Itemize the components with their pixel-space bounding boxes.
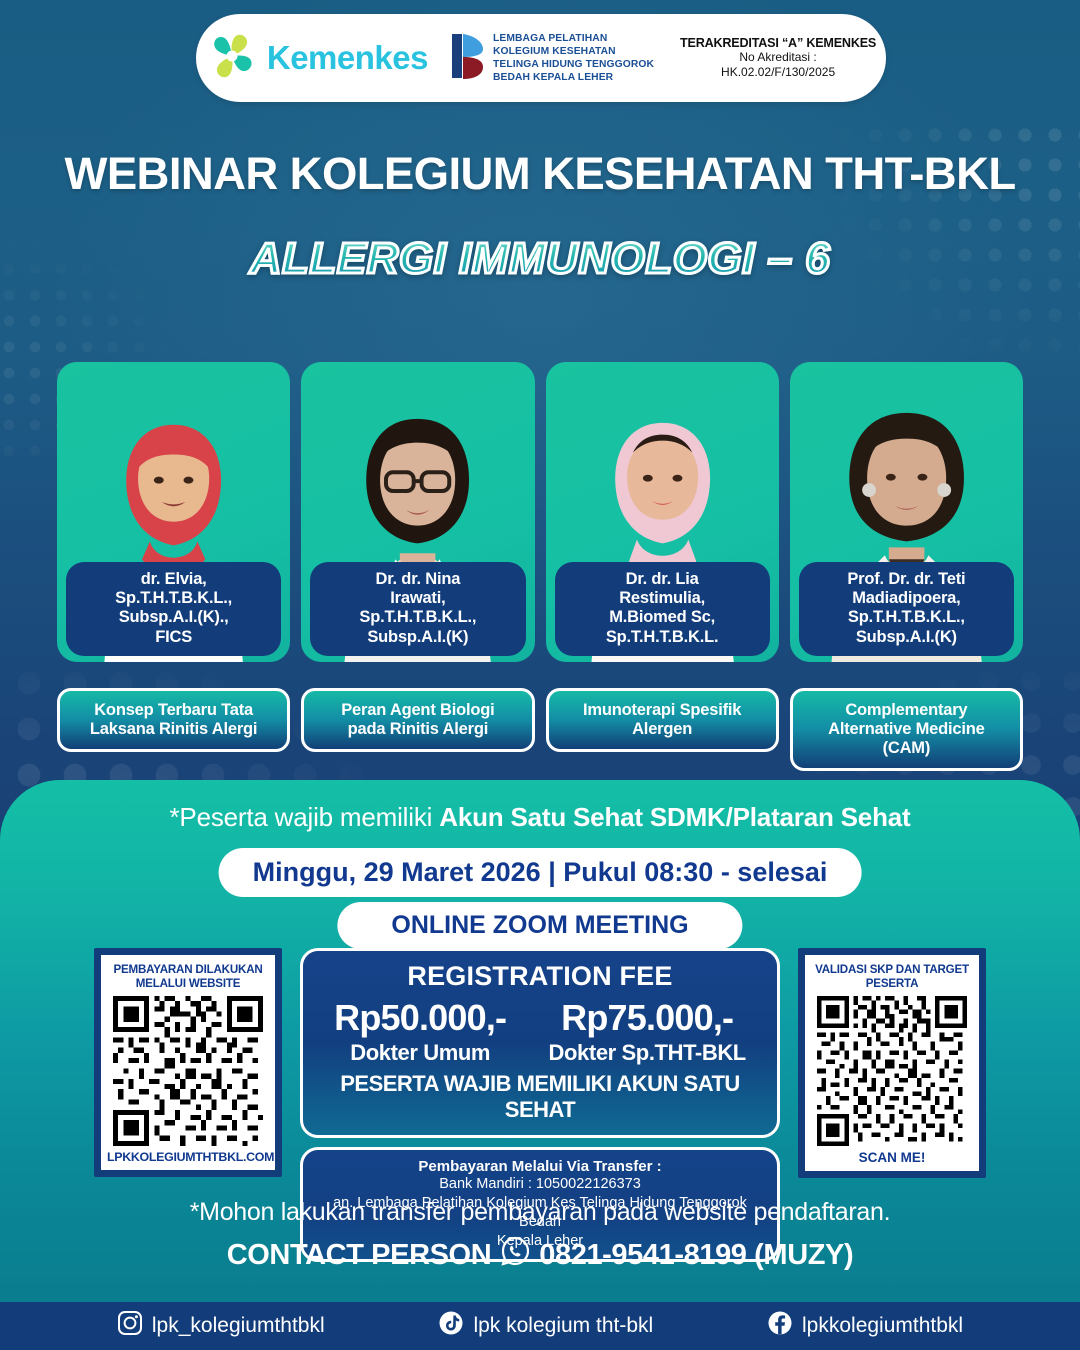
requirement-bold: Akun Satu Sehat SDMK/Plataran Sehat <box>439 802 910 832</box>
requirement-prefix: *Peserta wajib memiliki <box>170 802 440 832</box>
payment-qr-inner: PEMBAYARAN DILAKUKANMELALUI WEBSITE <box>101 955 275 1170</box>
skp-qr-card[interactable]: VALIDASI SKP DAN TARGETPESERTA <box>798 948 986 1178</box>
instagram-icon <box>117 1310 143 1342</box>
accreditation-block: TERAKREDITASI “A” KEMENKES No Akreditasi… <box>680 36 876 80</box>
topics-row: Konsep Terbaru TataLaksana Rinitis Alerg… <box>57 688 1023 771</box>
speaker-name: Dr. dr. LiaRestimulia,M.Biomed Sc,Sp.T.H… <box>555 562 770 656</box>
event-date-pill: Minggu, 29 Maret 2026 | Pukul 08:30 - se… <box>219 848 862 897</box>
poster-subtitle: ALLERGI IMMUNOLOGI – 6 <box>0 234 1080 284</box>
fee-general-label: Dokter Umum <box>334 1040 506 1066</box>
fee-specialist: Rp75.000,- Dokter Sp.THT-BKL <box>549 997 746 1066</box>
speaker-card: Dr. dr. LiaRestimulia,M.Biomed Sc,Sp.T.H… <box>546 362 779 662</box>
fee-general-amount: Rp50.000,- <box>334 997 506 1039</box>
speakers-row: dr. Elvia,Sp.T.H.T.B.K.L.,Subsp.A.I.(K).… <box>57 362 1023 662</box>
facebook-icon <box>767 1310 793 1342</box>
topic-pill: Imunoterapi SpesifikAlergen <box>546 688 779 752</box>
transfer-title: Pembayaran Melalui Via Transfer : <box>313 1158 767 1175</box>
social-footer: lpk_kolegiumthtbkl lpk kolegium tht-bkl … <box>0 1302 1080 1350</box>
event-platform-pill: ONLINE ZOOM MEETING <box>337 902 742 949</box>
lpk-text-block: LEMBAGA PELATIHAN KOLEGIUM KESEHATAN TEL… <box>493 32 654 85</box>
payment-qr-card[interactable]: PEMBAYARAN DILAKUKANMELALUI WEBSITE <box>94 948 282 1177</box>
lpk-line-1: LEMBAGA PELATIHAN <box>493 32 654 45</box>
fee-price-group: Rp50.000,- Dokter Umum Rp75.000,- Dokter… <box>313 997 767 1066</box>
registration-fee-title: REGISTRATION FEE <box>313 961 767 992</box>
speaker-card: dr. Elvia,Sp.T.H.T.B.K.L.,Subsp.A.I.(K).… <box>57 362 290 662</box>
topic-pill: Konsep Terbaru TataLaksana Rinitis Alerg… <box>57 688 290 752</box>
account-requirement-note: *Peserta wajib memiliki Akun Satu Sehat … <box>0 802 1080 833</box>
lpk-logo-icon <box>450 30 486 87</box>
header-logo-bar: Kemenkes LEMBAGA PELATIHAN KOLEGIUM KESE… <box>196 14 886 102</box>
transfer-reminder-note: *Mohon lakukan transfer pembayaran pada … <box>0 1198 1080 1227</box>
kemenkes-wordmark: Kemenkes <box>267 39 428 77</box>
poster-root: Kemenkes LEMBAGA PELATIHAN KOLEGIUM KESE… <box>0 0 1080 1350</box>
lpk-line-4: BEDAH KEPALA LEHER <box>493 71 654 84</box>
fee-general: Rp50.000,- Dokter Umum <box>334 997 506 1066</box>
topic-pill: ComplementaryAlternative Medicine(CAM) <box>790 688 1023 771</box>
contact-person-label: CONTACT PERSON <box>227 1239 492 1272</box>
transfer-bank-account: Bank Mandiri : 1050022126373 <box>313 1175 767 1194</box>
social-instagram[interactable]: lpk_kolegiumthtbkl <box>117 1310 325 1342</box>
payment-qr-caption: PEMBAYARAN DILAKUKANMELALUI WEBSITE <box>107 963 269 991</box>
registration-fee-box: REGISTRATION FEE Rp50.000,- Dokter Umum … <box>300 948 780 1138</box>
event-details-panel: *Peserta wajib memiliki Akun Satu Sehat … <box>0 780 1080 1302</box>
skp-qr-code[interactable] <box>817 996 967 1146</box>
payment-qr-code[interactable] <box>113 996 263 1146</box>
payment-website-url: LPKKOLEGIUMTHTBKL.COM <box>107 1150 269 1164</box>
social-facebook[interactable]: lpkkolegiumthtbkl <box>767 1310 963 1342</box>
fee-requirement-note: PESERTA WAJIB MEMILIKI AKUN SATU SEHAT <box>313 1071 767 1123</box>
tiktok-handle: lpk kolegium tht-bkl <box>473 1314 653 1338</box>
contact-phone-number[interactable]: 0821-9541-8199 (MUZY) <box>539 1239 853 1272</box>
speaker-name: Dr. dr. NinaIrawati,Sp.T.H.T.B.K.L.,Subs… <box>310 562 525 656</box>
accreditation-line-1: No Akreditasi : <box>680 50 876 65</box>
lpk-branding: LEMBAGA PELATIHAN KOLEGIUM KESEHATAN TEL… <box>450 30 654 87</box>
instagram-handle: lpk_kolegiumthtbkl <box>152 1314 325 1338</box>
social-tiktok[interactable]: lpk kolegium tht-bkl <box>438 1310 653 1342</box>
fee-specialist-label: Dokter Sp.THT-BKL <box>549 1040 746 1066</box>
facebook-handle: lpkkolegiumthtbkl <box>802 1314 963 1338</box>
speaker-name: dr. Elvia,Sp.T.H.T.B.K.L.,Subsp.A.I.(K).… <box>66 562 281 656</box>
kemenkes-branding: Kemenkes <box>206 30 428 87</box>
speaker-card: Prof. Dr. dr. TetiMadiadipoera,Sp.T.H.T.… <box>790 362 1023 662</box>
fee-specialist-amount: Rp75.000,- <box>549 997 746 1039</box>
speaker-card: Dr. dr. NinaIrawati,Sp.T.H.T.B.K.L.,Subs… <box>301 362 534 662</box>
lpk-line-2: KOLEGIUM KESEHATAN <box>493 45 654 58</box>
topic-pill: Peran Agent Biologipada Rinitis Alergi <box>301 688 534 752</box>
lpk-line-3: TELINGA HIDUNG TENGGOROK <box>493 58 654 71</box>
whatsapp-icon <box>500 1236 530 1274</box>
skp-scan-label: SCAN ME! <box>811 1150 973 1165</box>
accreditation-title: TERAKREDITASI “A” KEMENKES <box>680 36 876 50</box>
contact-person-row: CONTACT PERSON 0821-9541-8199 (MUZY) <box>0 1236 1080 1274</box>
skp-qr-caption: VALIDASI SKP DAN TARGETPESERTA <box>811 963 973 991</box>
poster-title: WEBINAR KOLEGIUM KESEHATAN THT-BKL <box>0 148 1080 200</box>
speaker-name: Prof. Dr. dr. TetiMadiadipoera,Sp.T.H.T.… <box>799 562 1014 656</box>
tiktok-icon <box>438 1310 464 1342</box>
skp-qr-inner: VALIDASI SKP DAN TARGETPESERTA <box>805 955 979 1171</box>
accreditation-line-2: HK.02.02/F/130/2025 <box>680 65 876 80</box>
kemenkes-logo-icon <box>206 30 258 87</box>
